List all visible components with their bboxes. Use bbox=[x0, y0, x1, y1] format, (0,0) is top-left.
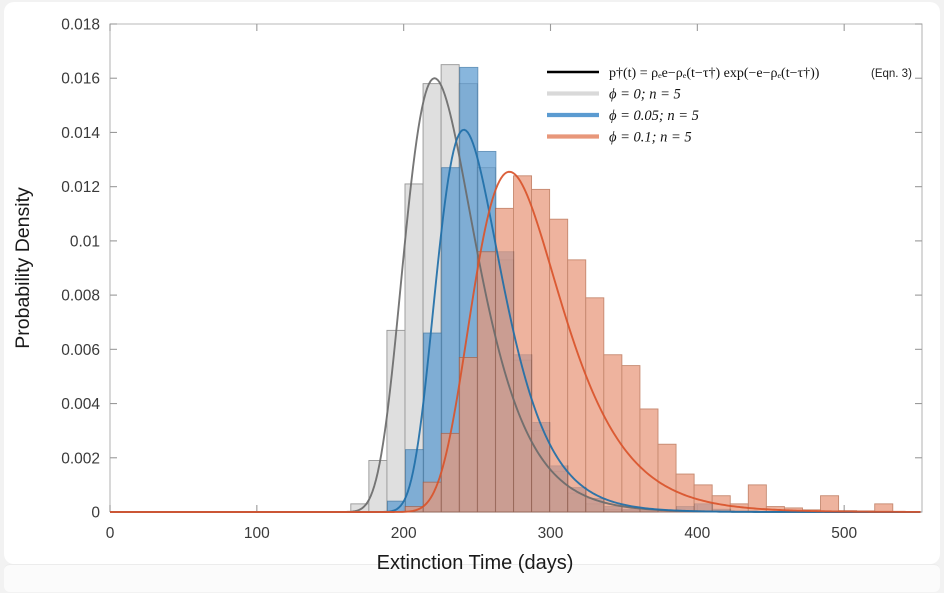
y-axis-label: Probability Density bbox=[12, 187, 34, 349]
histogram-bar bbox=[459, 357, 477, 512]
histogram-bar bbox=[640, 409, 658, 512]
y-tick-label: 0 bbox=[91, 505, 100, 522]
histogram-bar bbox=[821, 496, 839, 512]
x-tick-label: 400 bbox=[684, 525, 710, 542]
chart-legend: p†(t) = ρₑe−ρₑ(t−τ†) exp(−e−ρₑ(t−τ†))(Eq… bbox=[547, 66, 912, 146]
y-tick-label: 0.006 bbox=[61, 342, 100, 359]
x-tick-label: 200 bbox=[391, 525, 417, 542]
y-tick-label: 0.008 bbox=[61, 288, 100, 305]
legend-label-phi0: ϕ = 0; n = 5 bbox=[609, 87, 681, 103]
histogram-bar bbox=[875, 504, 893, 512]
x-tick-label: 0 bbox=[106, 525, 115, 542]
x-tick-label: 100 bbox=[244, 525, 270, 542]
histogram-bar bbox=[477, 252, 495, 512]
histogram-bar bbox=[441, 433, 459, 512]
histogram-bar bbox=[387, 330, 405, 512]
y-tick-label: 0.01 bbox=[70, 233, 100, 250]
histogram-bar bbox=[586, 298, 604, 512]
y-tick-label: 0.014 bbox=[61, 125, 100, 142]
legend-eqn-tag: (Eqn. 3) bbox=[871, 68, 912, 80]
legend-label-phi005: ϕ = 0.05; n = 5 bbox=[609, 108, 699, 124]
histogram-chart: 00.0020.0040.0060.0080.010.0120.0140.016… bbox=[0, 0, 944, 593]
legend-label-phi01: ϕ = 0.1; n = 5 bbox=[609, 130, 692, 146]
y-tick-label: 0.012 bbox=[61, 179, 100, 196]
histogram-bar bbox=[622, 366, 640, 512]
chart-container: 00.0020.0040.0060.0080.010.0120.0140.016… bbox=[0, 0, 944, 593]
screenshot-root: 00.0020.0040.0060.0080.010.0120.0140.016… bbox=[0, 0, 944, 593]
histogram-bar bbox=[658, 444, 676, 512]
x-tick-label: 500 bbox=[831, 525, 857, 542]
y-tick-label: 0.016 bbox=[61, 71, 100, 88]
y-tick-label: 0.018 bbox=[61, 17, 100, 34]
histogram-bar bbox=[532, 189, 550, 512]
x-axis-label: Extinction Time (days) bbox=[377, 552, 574, 574]
legend-label-equation: p†(t) = ρₑe−ρₑ(t−τ†) exp(−e−ρₑ(t−τ†)) bbox=[609, 66, 820, 81]
y-tick-label: 0.002 bbox=[61, 450, 100, 467]
x-tick-label: 300 bbox=[538, 525, 564, 542]
y-tick-label: 0.004 bbox=[61, 396, 100, 413]
